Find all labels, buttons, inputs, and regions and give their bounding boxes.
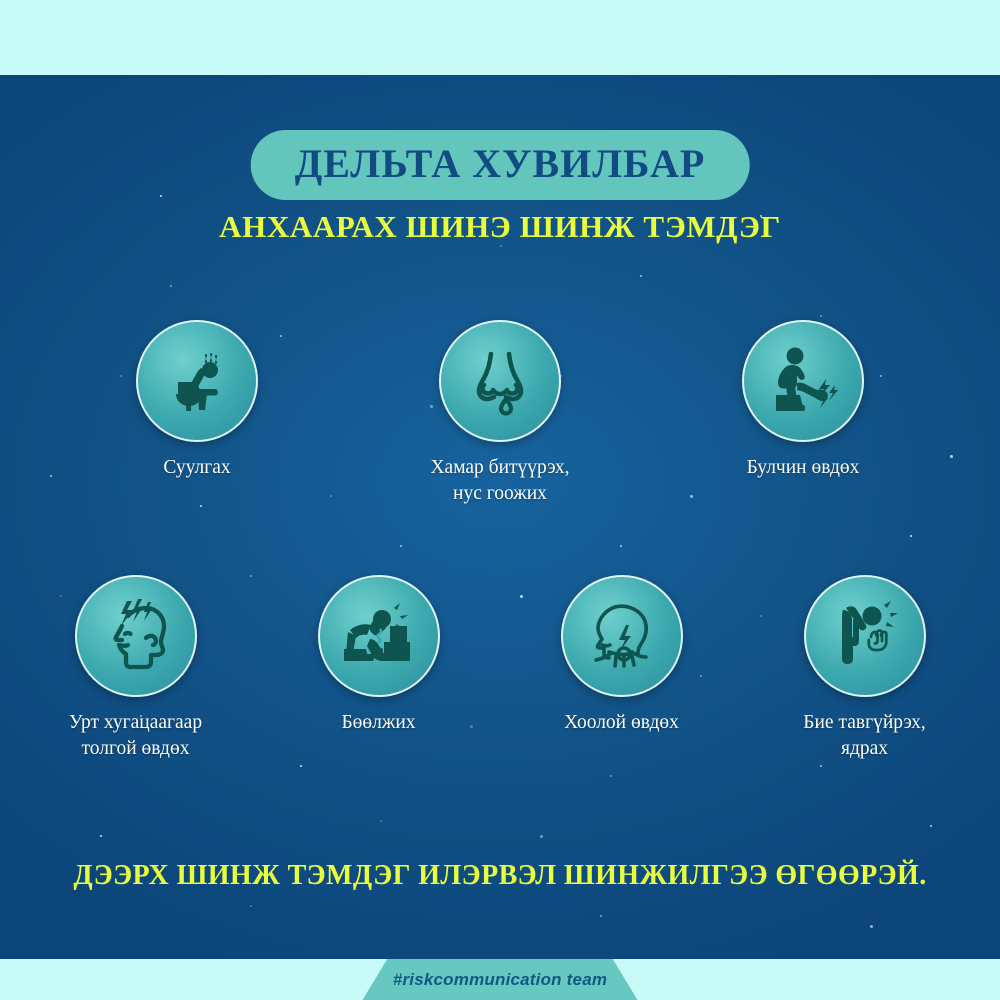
symptom-item: Булчин өвдөх [711, 320, 896, 506]
symptom-item: Хамар битүүрэх,нус гоожих [408, 320, 593, 506]
fatigue-icon [804, 575, 926, 697]
page-footer: #riskcommunication team [0, 959, 1000, 1000]
headache-icon [75, 575, 197, 697]
symptom-item: Бие тавгүйрэх,ядрах [772, 575, 957, 761]
muscle-pain-icon [742, 320, 864, 442]
symptom-item: Бөөлжих [286, 575, 471, 761]
footer-hashtag: #riskcommunication team [393, 970, 607, 990]
symptom-row-1: Суулгах Хамар битүүрэх,нус гоожих [0, 320, 1000, 506]
symptom-label: Урт хугацаагаартолгой өвдөх [69, 710, 202, 761]
vomiting-icon [318, 575, 440, 697]
title-pill: ДЕЛЬТА ХУВИЛБАР [251, 130, 750, 200]
footer-hashtag-tab: #riskcommunication team [363, 959, 638, 1000]
symptom-item: Урт хугацаагаартолгой өвдөх [43, 575, 228, 761]
page-header [0, 0, 1000, 75]
call-to-action-text: ДЭЭРХ ШИНЖ ТЭМДЭГ ИЛЭРВЭЛ ШИНЖИЛГЭЭ ӨГӨӨ… [0, 860, 1000, 892]
symptom-label: Хамар битүүрэх,нус гоожих [430, 455, 569, 506]
symptom-label: Суулгах [163, 455, 230, 481]
symptom-label: Хоолой өвдөх [564, 710, 679, 736]
symptom-label: Бие тавгүйрэх,ядрах [803, 710, 925, 761]
symptom-row-2: Урт хугацаагаартолгой өвдөх [0, 575, 1000, 761]
sore-throat-icon [561, 575, 683, 697]
runny-nose-icon [439, 320, 561, 442]
symptom-label: Булчин өвдөх [747, 455, 860, 481]
symptom-item: Суулгах [105, 320, 290, 506]
main-panel: ДЕЛЬТА ХУВИЛБАР АНХААРАХ ШИНЭ ШИНЖ ТЭМДЭ… [0, 75, 1000, 959]
symptom-item: Хоолой өвдөх [529, 575, 714, 761]
page-subtitle: АНХААРАХ ШИНЭ ШИНЖ ТЭМДЭГ [0, 209, 1000, 245]
diarrhea-toilet-icon [136, 320, 258, 442]
symptom-label: Бөөлжих [341, 710, 415, 736]
page-title: ДЕЛЬТА ХУВИЛБАР [295, 141, 706, 186]
